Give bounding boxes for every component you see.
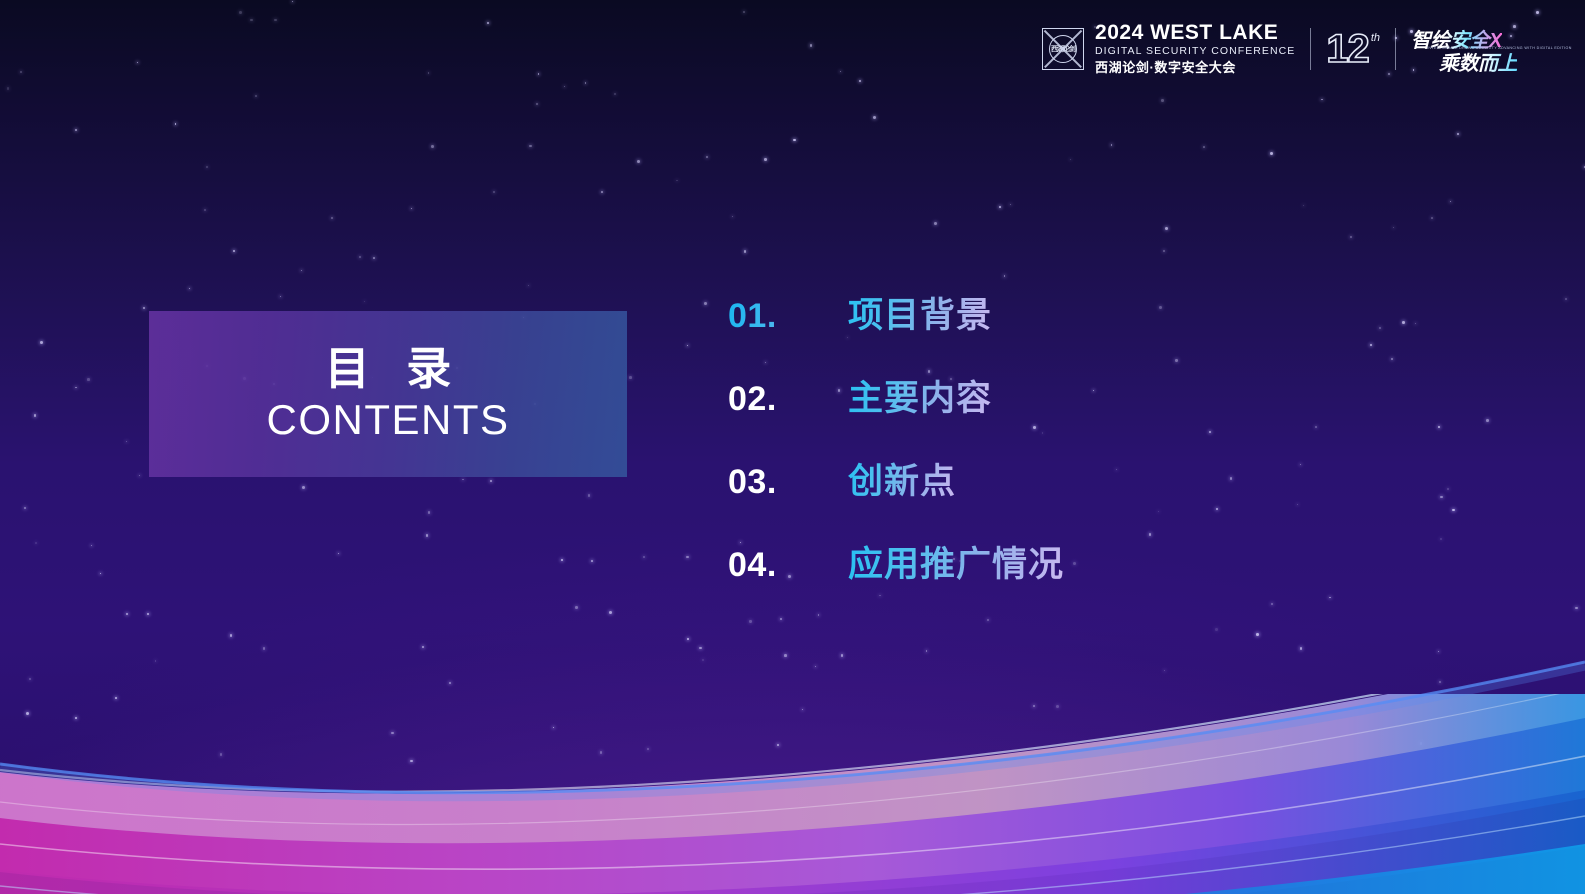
star-dot xyxy=(1297,504,1298,505)
star-dot xyxy=(1161,99,1164,102)
star-dot xyxy=(126,441,128,443)
star-dot xyxy=(676,180,677,181)
contents-item-01[interactable]: 01.项目背景 xyxy=(728,287,1064,370)
star-dot xyxy=(629,376,632,379)
star-dot xyxy=(643,556,645,558)
star-dot xyxy=(1438,426,1440,428)
star-dot xyxy=(1004,275,1006,277)
star-dot xyxy=(1010,204,1012,206)
star-dot xyxy=(528,285,530,287)
star-dot xyxy=(175,123,177,125)
star-dot xyxy=(449,682,451,684)
star-dot xyxy=(553,727,554,728)
star-dot xyxy=(614,93,616,95)
star-dot xyxy=(40,341,43,344)
edition-suffix: th xyxy=(1371,32,1380,44)
star-dot xyxy=(1451,743,1452,744)
contents-item-number: 01. xyxy=(728,297,848,336)
star-dot xyxy=(115,697,117,699)
star-dot xyxy=(1402,321,1405,324)
contents-item-04[interactable]: 04.应用推广情况 xyxy=(728,536,1064,619)
conference-title-block: 2024 WEST LAKE DIGITAL SECURITY CONFEREN… xyxy=(1095,22,1295,76)
star-dot xyxy=(1457,133,1459,135)
star-dot xyxy=(999,206,1001,208)
star-dot xyxy=(1565,298,1567,300)
star-dot xyxy=(686,556,689,559)
star-dot xyxy=(1303,205,1305,207)
star-dot xyxy=(1575,607,1578,610)
star-dot xyxy=(462,479,463,480)
star-dot xyxy=(1350,236,1353,239)
star-dot xyxy=(263,647,266,650)
star-dot xyxy=(75,129,77,131)
star-dot xyxy=(250,19,252,21)
star-dot xyxy=(75,717,77,719)
star-dot xyxy=(24,507,26,509)
contents-list: 01.项目背景02.主要内容03.创新点04.应用推广情况 xyxy=(728,287,1064,619)
contents-item-number: 04. xyxy=(728,546,848,585)
west-lake-seal-icon: 西湖论剑 xyxy=(1042,28,1084,70)
star-dot xyxy=(274,19,277,22)
star-dot xyxy=(1440,538,1442,540)
star-dot xyxy=(704,302,707,305)
contents-item-number: 03. xyxy=(728,463,848,502)
star-dot xyxy=(1165,227,1168,230)
star-dot xyxy=(1447,488,1449,490)
star-dot xyxy=(493,191,495,193)
star-dot xyxy=(410,760,413,763)
star-dot xyxy=(428,511,431,514)
star-dot xyxy=(784,654,787,657)
star-dot xyxy=(1439,681,1441,683)
star-dot xyxy=(426,534,429,537)
star-dot xyxy=(155,660,157,662)
star-dot xyxy=(1329,597,1331,599)
star-dot xyxy=(743,11,745,13)
star-dot xyxy=(338,553,339,554)
star-dot xyxy=(1230,477,1232,479)
star-dot xyxy=(1209,431,1211,433)
star-dot xyxy=(359,256,361,258)
star-dot xyxy=(7,87,9,89)
star-dot xyxy=(206,166,208,168)
conference-logo-bar: 西湖论剑 2024 WEST LAKE DIGITAL SECURITY CON… xyxy=(1042,24,1533,74)
star-dot xyxy=(239,11,242,14)
star-dot xyxy=(233,250,235,252)
conference-title-cn: 西湖论剑·数字安全大会 xyxy=(1095,60,1295,76)
conference-title-en: 2024 WEST LAKE xyxy=(1095,22,1295,44)
star-dot xyxy=(1450,201,1451,202)
star-dot xyxy=(637,160,640,163)
star-dot xyxy=(255,95,257,97)
star-dot xyxy=(1111,144,1112,145)
contents-item-number: 02. xyxy=(728,380,848,419)
star-dot xyxy=(1536,11,1539,14)
slogan-line-2: 乘数而上 xyxy=(1439,47,1517,76)
star-dot xyxy=(1438,651,1439,652)
contents-item-label: 创新点 xyxy=(848,453,956,504)
star-dot xyxy=(1379,327,1381,329)
star-dot xyxy=(29,678,31,680)
star-dot xyxy=(26,712,29,715)
star-dot xyxy=(230,634,232,636)
contents-item-02[interactable]: 02.主要内容 xyxy=(728,370,1064,453)
star-dot xyxy=(431,145,434,148)
star-dot xyxy=(777,744,779,746)
star-dot xyxy=(840,71,841,72)
star-dot xyxy=(331,217,333,219)
star-dot xyxy=(1056,705,1059,708)
star-dot xyxy=(1033,705,1035,707)
star-dot xyxy=(1116,469,1117,470)
star-dot xyxy=(859,80,861,82)
star-dot xyxy=(1215,628,1218,631)
star-dot xyxy=(1175,359,1177,361)
star-dot xyxy=(428,72,430,74)
star-dot xyxy=(487,22,489,24)
star-dot xyxy=(802,709,803,710)
star-dot xyxy=(1164,670,1165,671)
star-dot xyxy=(137,62,138,63)
star-dot xyxy=(220,753,223,756)
star-dot xyxy=(1279,747,1282,750)
star-dot xyxy=(1315,426,1317,428)
star-dot xyxy=(35,542,37,544)
star-dot xyxy=(1393,227,1394,228)
star-dot xyxy=(301,270,302,271)
star-dot xyxy=(75,387,77,389)
star-dot xyxy=(600,751,603,754)
star-dot xyxy=(302,486,305,489)
star-dot xyxy=(391,732,393,734)
star-dot xyxy=(280,296,281,297)
star-dot xyxy=(706,156,708,158)
star-dot xyxy=(490,480,492,482)
star-dot xyxy=(204,209,206,211)
star-dot xyxy=(732,216,734,218)
star-dot xyxy=(34,414,37,417)
contents-title-card: 目 录 CONTENTS xyxy=(149,311,627,477)
star-dot xyxy=(793,139,796,142)
conference-subtitle-en: DIGITAL SECURITY CONFERENCE xyxy=(1095,44,1295,60)
star-dot xyxy=(87,378,90,381)
star-dot xyxy=(1450,708,1451,709)
contents-item-label: 项目背景 xyxy=(848,287,992,338)
star-dot xyxy=(647,748,649,750)
logo-divider-1 xyxy=(1310,28,1311,70)
star-dot xyxy=(575,606,578,609)
star-dot xyxy=(1486,419,1489,422)
star-dot xyxy=(601,191,603,193)
star-dot xyxy=(1321,99,1323,101)
star-dot xyxy=(810,44,813,47)
star-dot xyxy=(841,654,844,657)
star-dot xyxy=(987,619,990,622)
star-dot xyxy=(364,301,365,302)
star-dot xyxy=(1158,511,1159,512)
star-dot xyxy=(1370,344,1373,347)
star-dot xyxy=(1203,146,1205,148)
star-dot xyxy=(529,145,532,148)
star-dot xyxy=(1431,217,1433,219)
star-dot xyxy=(1300,647,1303,650)
star-dot xyxy=(1163,250,1165,252)
star-dot xyxy=(538,73,540,75)
star-dot xyxy=(687,345,689,347)
star-dot xyxy=(189,288,190,289)
star-dot xyxy=(1070,159,1071,160)
star-dot xyxy=(591,560,593,562)
star-dot xyxy=(934,222,937,225)
star-dot xyxy=(687,638,689,640)
star-dot xyxy=(20,71,22,73)
star-dot xyxy=(143,307,145,309)
star-dot xyxy=(564,86,565,87)
star-dot xyxy=(292,1,293,2)
star-dot xyxy=(764,158,767,161)
star-dot xyxy=(702,659,704,661)
star-dot xyxy=(1256,633,1259,636)
star-dot xyxy=(1420,742,1423,745)
edition-number: 12 xyxy=(1326,30,1369,68)
star-dot xyxy=(1159,306,1162,309)
star-dot xyxy=(815,666,816,667)
contents-item-03[interactable]: 03.创新点 xyxy=(728,453,1064,536)
star-dot xyxy=(147,613,149,615)
star-dot xyxy=(873,116,876,119)
star-dot xyxy=(1073,562,1076,565)
star-dot xyxy=(536,103,538,105)
star-dot xyxy=(1391,358,1393,360)
contents-title-cn: 目 录 xyxy=(313,345,464,392)
star-dot xyxy=(411,208,412,209)
slogan-logo: 智绘安全X INTELLIGENCE DRAWS SECURITY ADVANC… xyxy=(1411,24,1533,74)
star-dot xyxy=(1093,390,1094,391)
contents-item-label: 应用推广情况 xyxy=(848,536,1064,587)
contents-title-en: CONTENTS xyxy=(267,397,510,443)
star-dot xyxy=(1270,152,1273,155)
star-dot xyxy=(1271,603,1273,605)
star-dot xyxy=(91,545,92,546)
star-dot xyxy=(699,647,702,650)
star-dot xyxy=(139,475,140,476)
star-dot xyxy=(609,611,612,614)
star-dot xyxy=(373,257,375,259)
blue-arc-decoration xyxy=(0,654,1585,894)
star-dot xyxy=(422,646,424,648)
star-dot xyxy=(1452,509,1455,512)
star-dot xyxy=(100,573,102,575)
star-dot xyxy=(926,650,928,652)
contents-item-label: 主要内容 xyxy=(848,370,992,421)
presentation-slide: 西湖论剑 2024 WEST LAKE DIGITAL SECURITY CON… xyxy=(0,0,1585,894)
logo-divider-2 xyxy=(1395,28,1396,70)
star-dot xyxy=(749,620,751,622)
star-dot xyxy=(561,559,563,561)
star-dot xyxy=(1149,533,1152,536)
bottom-wave-decoration xyxy=(0,694,1585,894)
star-dot xyxy=(588,494,591,497)
star-dot xyxy=(1300,464,1301,465)
star-dot xyxy=(1216,508,1218,510)
star-dot xyxy=(1415,323,1417,325)
star-dot xyxy=(1440,496,1442,498)
star-dot xyxy=(126,613,128,615)
edition-badge: 12 th xyxy=(1326,30,1380,68)
star-dot xyxy=(744,250,747,253)
star-dot xyxy=(585,82,587,84)
